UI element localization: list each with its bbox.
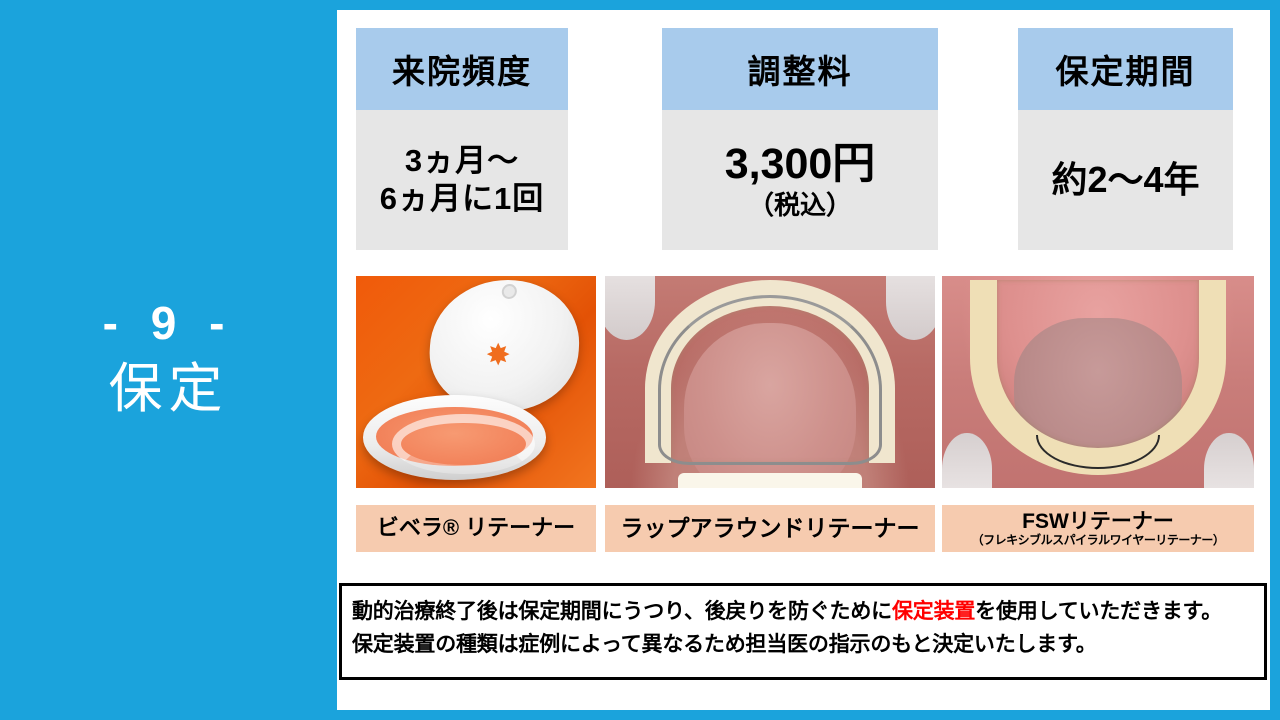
retainer-tray [376, 407, 533, 466]
info-card-value-sub: （税込） [748, 190, 852, 222]
gallery-caption-main: ビベラ® リテーナー [377, 516, 575, 540]
gallery-caption-sub: （フレキシブルスパイラルワイヤーリテーナー） [972, 534, 1225, 547]
note-box: 動的治療終了後は保定期間にうつり、後戻りを防ぐために保定装置を使用していただきま… [339, 583, 1267, 680]
fsw-retainer-lower-arch-photo [942, 276, 1254, 488]
gallery-item-vivera: ✸ ビベラ® リテーナー [356, 276, 596, 552]
note-line-1: 動的治療終了後は保定期間にうつり、後戻りを防ぐために保定装置を使用していただきま… [352, 596, 1254, 629]
gallery-caption: ビベラ® リテーナー [356, 505, 596, 552]
info-card-header: 調整料 [662, 28, 938, 110]
info-card-header: 保定期間 [1018, 28, 1233, 110]
info-card-body: 約2〜4年 [1018, 110, 1233, 250]
gallery-caption-main: FSWリテーナー [1022, 510, 1174, 533]
step-title: 保定 [109, 357, 229, 422]
retainer-case-base [363, 395, 545, 480]
info-card-retention-period: 保定期間 約2〜4年 [1018, 28, 1233, 250]
gallery-caption: FSWリテーナー （フレキシブルスパイラルワイヤーリテーナー） [942, 505, 1254, 552]
vivera-retainer-case-photo: ✸ [356, 276, 596, 488]
info-card-value-line1: 3,300円 [725, 138, 876, 190]
retainer-gallery: ✸ ビベラ® リテーナー ラップアラウンドリテーナー [337, 276, 1270, 561]
gallery-item-wraparound: ラップアラウンドリテーナー [605, 276, 935, 552]
cheek-retractor-left [605, 276, 655, 340]
cheek-retractor-left [942, 433, 992, 488]
note-highlight-term: 保定装置 [892, 600, 975, 623]
info-card-header: 来院頻度 [356, 28, 568, 110]
info-card-body: 3ヵ月〜 6ヵ月に1回 [356, 110, 568, 250]
lower-incisors [678, 473, 863, 488]
gallery-item-fsw: FSWリテーナー （フレキシブルスパイラルワイヤーリテーナー） [942, 276, 1254, 552]
gallery-caption-main: ラップアラウンドリテーナー [621, 516, 920, 541]
wraparound-retainer-upper-arch-photo [605, 276, 935, 488]
note-line-1-part-2: を使用していただきます。 [975, 600, 1222, 623]
info-card-value-line1: 約2〜4年 [1051, 158, 1199, 202]
cheek-retractor-right [1204, 433, 1254, 488]
gallery-caption: ラップアラウンドリテーナー [605, 505, 935, 552]
step-number: - 9 - [103, 298, 235, 349]
note-line-1-part-1: 動的治療終了後は保定期間にうつり、後戻りを防ぐために [352, 600, 892, 623]
info-card-row: 来院頻度 3ヵ月〜 6ヵ月に1回 調整料 3,300円 （税込） 保定期間 約2… [337, 10, 1270, 258]
info-card-value-line1: 3ヵ月〜 [405, 142, 519, 180]
cheek-retractor-right [886, 276, 936, 340]
sidebar: - 9 - 保定 [0, 0, 337, 720]
content-panel: 来院頻度 3ヵ月〜 6ヵ月に1回 調整料 3,300円 （税込） 保定期間 約2… [337, 10, 1270, 710]
note-line-2: 保定装置の種類は症例によって異なるため担当医の指示のもと決定いたします。 [352, 629, 1254, 662]
info-card-value-line2: 6ヵ月に1回 [380, 180, 544, 218]
info-card-body: 3,300円 （税込） [662, 110, 938, 250]
info-card-adjustment-fee: 調整料 3,300円 （税込） [662, 28, 938, 250]
starburst-icon: ✸ [486, 344, 510, 368]
info-card-visit-frequency: 来院頻度 3ヵ月〜 6ヵ月に1回 [356, 28, 568, 250]
